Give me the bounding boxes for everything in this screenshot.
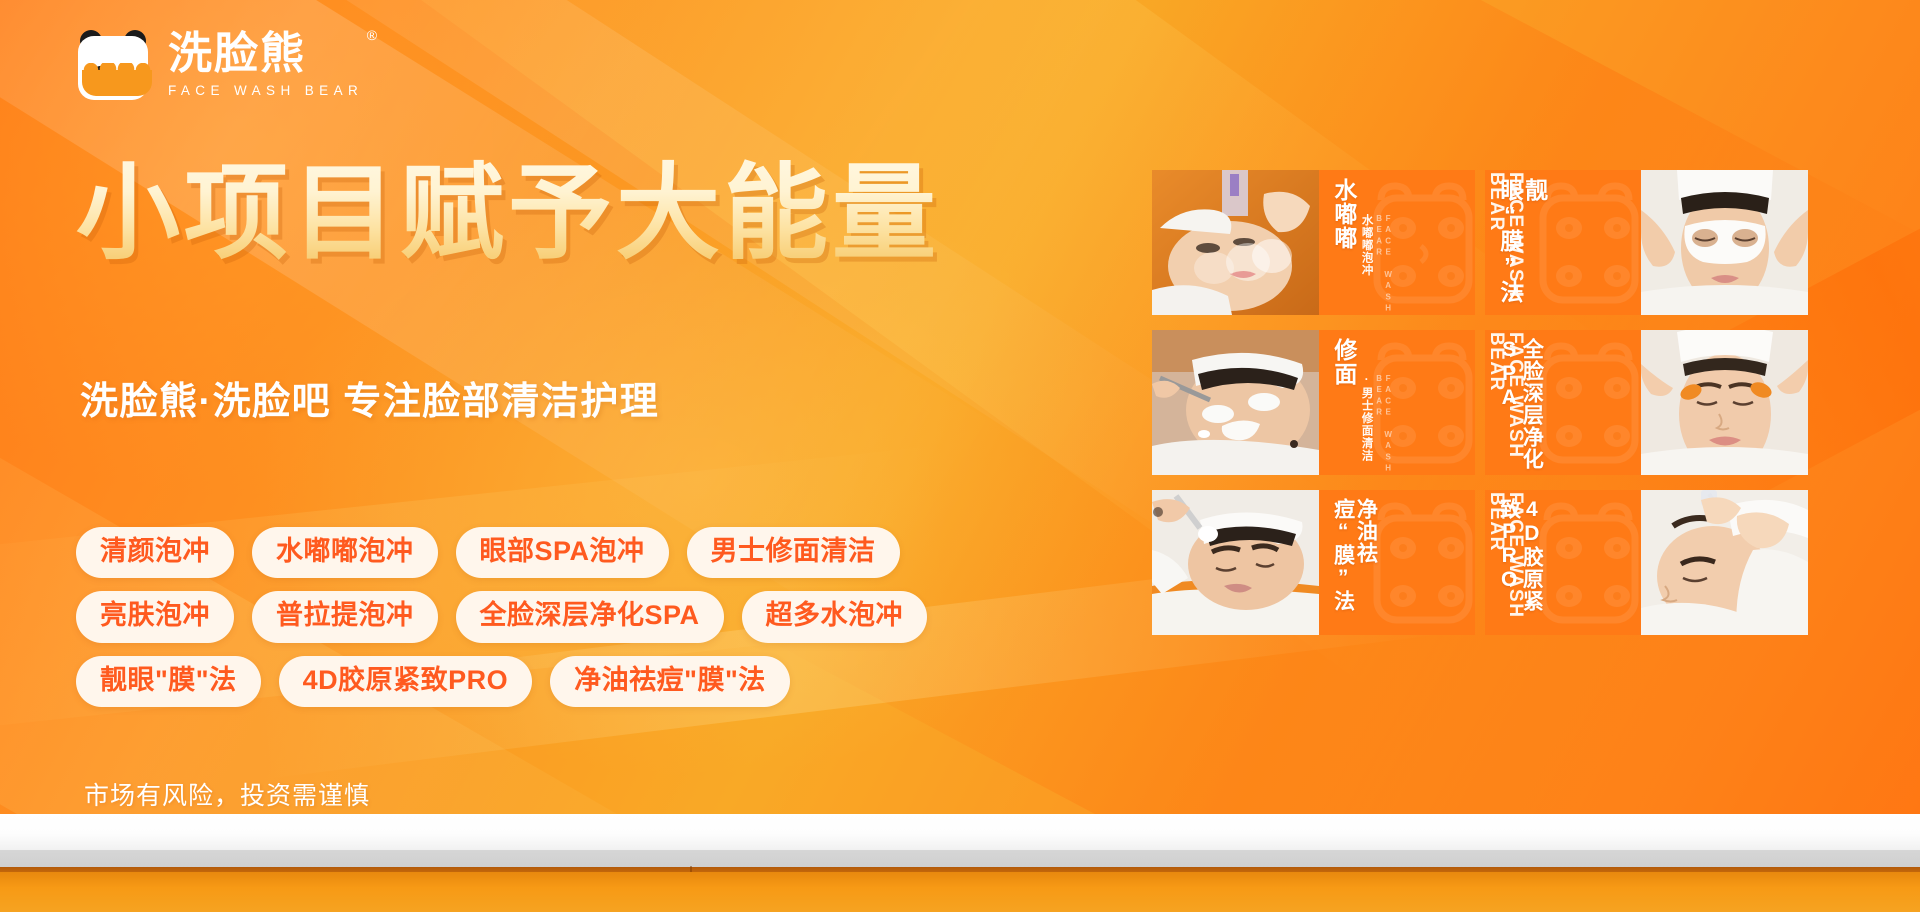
brand-name-cn-text: 洗脸熊 <box>168 29 306 78</box>
service-tag[interactable]: 男士修面清洁 <box>687 527 900 578</box>
service-tag[interactable]: 清颜泡冲 <box>76 527 234 578</box>
gallery-card[interactable]: 靓眼“膜”法 FACE WASH BEAR <box>1485 170 1808 315</box>
service-tag[interactable]: 普拉提泡冲 <box>252 591 438 642</box>
treatment-gallery: 水嘟嘟 水嘟嘟泡冲 FACE WASH BEAR <box>1152 170 1808 635</box>
brand-wordmark: 洗脸熊® FACE WASH BEAR <box>168 32 363 98</box>
bubble-cleanse-treatment-photo <box>1152 170 1319 315</box>
service-tag[interactable]: 水嘟嘟泡冲 <box>252 527 438 578</box>
card-brand-small: FACE WASH BEAR <box>1375 214 1393 315</box>
gallery-card[interactable]: 水嘟嘟 水嘟嘟泡冲 FACE WASH BEAR <box>1152 170 1475 315</box>
service-tag[interactable]: 靓眼"膜"法 <box>76 656 261 707</box>
service-tag-row-3: 靓眼"膜"法 4D胶原紧致PRO 净油祛痘"膜"法 <box>76 656 1136 707</box>
treatment-photo <box>1641 490 1808 635</box>
gallery-card[interactable]: 4D胶原紧致PRO FACE WASH BEAR <box>1485 490 1808 635</box>
promo-banner: 洗脸熊® FACE WASH BEAR 小项目赋予大能量 洗脸熊·洗脸吧 专注脸… <box>0 0 1920 912</box>
eye-mask-treatment-photo <box>1641 170 1808 315</box>
card-title: 净油祛痘“膜”法 <box>1331 498 1376 630</box>
risk-disclaimer: 市场有风险，投资需谨慎 <box>84 776 370 812</box>
registered-mark-icon: ® <box>367 28 379 42</box>
gallery-card[interactable]: 净油祛痘“膜”法 <box>1152 490 1475 635</box>
panda-logo-icon <box>74 26 152 104</box>
treatment-photo <box>1641 170 1808 315</box>
card-subtitle: 水嘟嘟泡冲 <box>1359 214 1373 277</box>
treatment-photo <box>1152 170 1319 315</box>
service-tag[interactable]: 4D胶原紧致PRO <box>279 656 533 707</box>
service-tag[interactable]: 全脸深层净化SPA <box>456 591 724 642</box>
service-tag[interactable]: 净油祛痘"膜"法 <box>550 656 790 707</box>
gallery-card[interactable]: 修面 ·男士修面清洁 FACE WASH BEAR <box>1152 330 1475 475</box>
gallery-card[interactable]: 全脸深层净化SPA FACE WASH BEAR <box>1485 330 1808 475</box>
brand-strip-vertical: FACE WASH BEAR <box>1487 332 1525 474</box>
card-brand-small: FACE WASH BEAR <box>1375 374 1393 475</box>
service-tag[interactable]: 亮肤泡冲 <box>76 591 234 642</box>
card-subtitle: ·男士修面清洁 <box>1359 374 1373 462</box>
card-caption-panel: 水嘟嘟 水嘟嘟泡冲 FACE WASH BEAR <box>1319 170 1475 315</box>
service-tag[interactable]: 超多水泡冲 <box>742 591 928 642</box>
panda-foam-icon <box>82 70 152 96</box>
brand-name-cn: 洗脸熊® <box>168 32 363 76</box>
shelf-gray-band <box>0 850 1920 868</box>
treatment-photo <box>1641 330 1808 475</box>
treatment-photo <box>1152 330 1319 475</box>
service-tag-list: 清颜泡冲 水嘟嘟泡冲 眼部SPA泡冲 男士修面清洁 亮肤泡冲 普拉提泡冲 全脸深… <box>76 527 1136 720</box>
card-title: 水嘟嘟 <box>1331 178 1356 250</box>
full-face-deep-clean-spa-photo <box>1641 330 1808 475</box>
card-caption-panel: 净油祛痘“膜”法 <box>1319 490 1475 635</box>
card-title: 修面 <box>1331 338 1356 386</box>
shelf-white-band <box>0 814 1920 850</box>
brand-name-en: FACE WASH BEAR <box>168 83 363 98</box>
page-subtitle: 洗脸熊·洗脸吧 专注脸部清洁护理 <box>80 370 659 425</box>
brand-strip-vertical: FACE WASH BEAR <box>1487 492 1525 634</box>
brand-logo[interactable]: 洗脸熊® FACE WASH BEAR <box>74 26 363 104</box>
treatment-photo <box>1152 490 1319 635</box>
service-tag-row-1: 清颜泡冲 水嘟嘟泡冲 眼部SPA泡冲 男士修面清洁 <box>76 527 1136 578</box>
service-tag-row-2: 亮肤泡冲 普拉提泡冲 全脸深层净化SPA 超多水泡冲 <box>76 591 1136 642</box>
collagen-firming-pro-photo <box>1641 490 1808 635</box>
shelf-base-band <box>0 872 1920 912</box>
card-caption-panel: 修面 ·男士修面清洁 FACE WASH BEAR <box>1319 330 1475 475</box>
page-title: 小项目赋予大能量 <box>76 158 940 270</box>
panda-face-icon <box>78 36 148 100</box>
mens-shave-treatment-photo <box>1152 330 1319 475</box>
brand-strip-vertical: FACE WASH BEAR <box>1487 172 1525 314</box>
oil-control-acne-treatment-photo <box>1152 490 1319 635</box>
service-tag[interactable]: 眼部SPA泡冲 <box>456 527 669 578</box>
